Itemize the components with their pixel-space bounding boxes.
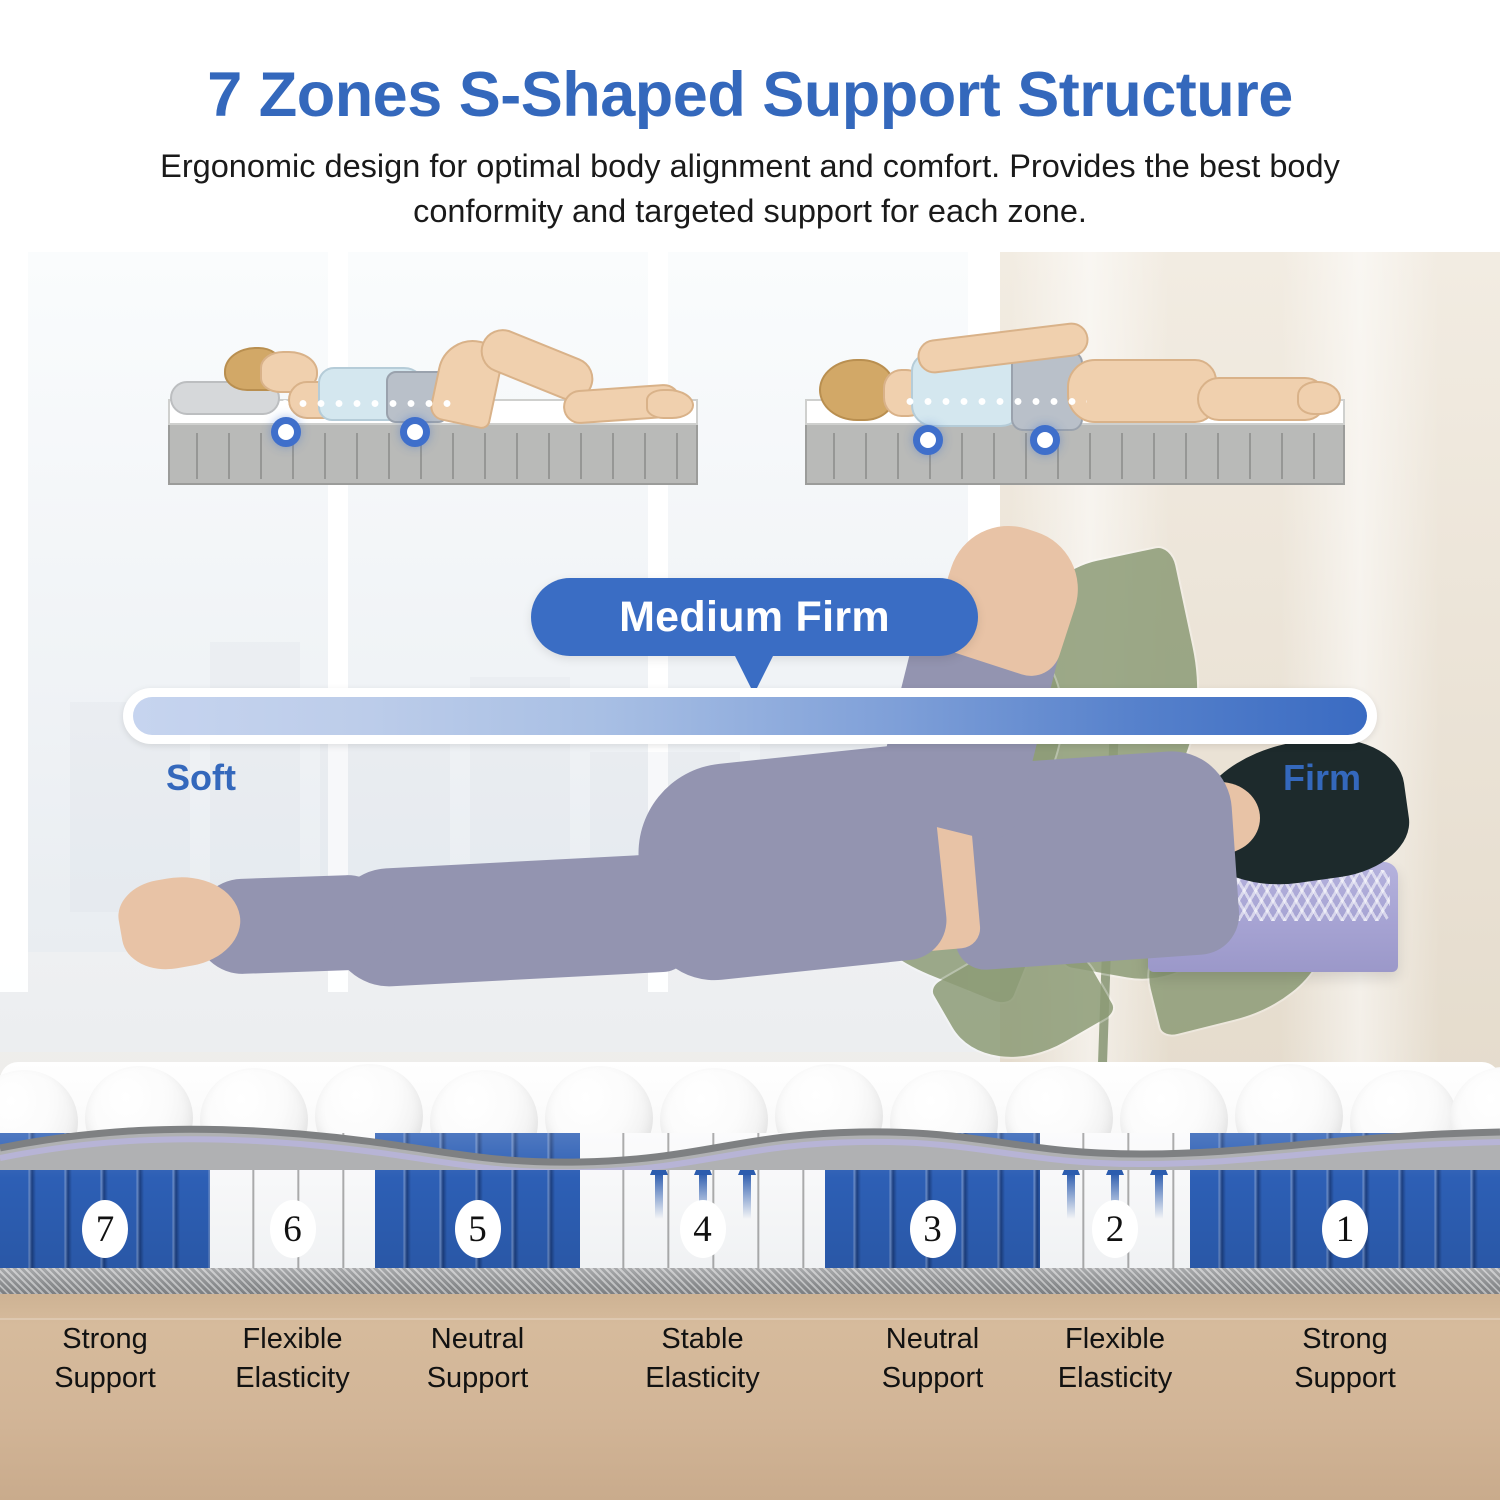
firmness-badge-label: Medium Firm xyxy=(619,596,890,639)
zone-label-3: NeutralSupport xyxy=(825,1308,1040,1428)
zone-number-badge: 2 xyxy=(1092,1200,1138,1258)
diagram-coil-base xyxy=(168,423,698,485)
zone-label-line2: Support xyxy=(825,1359,1040,1398)
zone-number-badge: 7 xyxy=(82,1200,128,1258)
zone-label-line2: Elasticity xyxy=(580,1359,825,1398)
zone-label-line2: Support xyxy=(1190,1359,1500,1398)
product-infographic: 7 Zones S-Shaped Support Structure Ergon… xyxy=(0,0,1500,1500)
diagram-back-sleeper xyxy=(168,325,698,485)
zone-label-line2: Elasticity xyxy=(210,1359,375,1398)
window-frame xyxy=(0,252,28,992)
zone-label-line1: Strong xyxy=(1190,1320,1500,1359)
page-title: 7 Zones S-Shaped Support Structure xyxy=(0,0,1500,128)
zone-label-line1: Flexible xyxy=(1040,1320,1190,1359)
zone-number-badge: 5 xyxy=(455,1200,501,1258)
firmness-slider-fill xyxy=(133,697,1367,735)
zone-label-line1: Stable xyxy=(580,1320,825,1359)
spine-alignment-line xyxy=(901,397,1087,406)
diagram-coil-base xyxy=(805,423,1345,485)
zone-label-line2: Support xyxy=(0,1359,210,1398)
zone-label-line1: Strong xyxy=(0,1320,210,1359)
zone-label-1: StrongSupport xyxy=(1190,1308,1500,1428)
up-arrow-icon xyxy=(1062,1153,1080,1219)
zone-label-2: FlexibleElasticity xyxy=(1040,1308,1190,1428)
pressure-point-marker xyxy=(1030,425,1060,455)
firmness-label-soft: Soft xyxy=(166,760,236,796)
diagram-side-sleeper xyxy=(805,325,1345,485)
pressure-point-marker xyxy=(913,425,943,455)
zone-number-badge: 4 xyxy=(680,1200,726,1258)
header: 7 Zones S-Shaped Support Structure Ergon… xyxy=(0,0,1500,252)
up-arrow-icon xyxy=(650,1153,668,1219)
zone-label-7: StrongSupport xyxy=(0,1308,210,1428)
up-arrow-icon xyxy=(738,1153,756,1219)
zone-number-badge: 1 xyxy=(1322,1200,1368,1258)
pressure-point-marker xyxy=(400,417,430,447)
zone-number-badge: 3 xyxy=(910,1200,956,1258)
zone-label-row: StrongSupportFlexibleElasticityNeutralSu… xyxy=(0,1308,1500,1428)
zone-label-4: StableElasticity xyxy=(580,1308,825,1428)
zone-label-line1: Neutral xyxy=(825,1320,1040,1359)
diagram-hip-thigh xyxy=(1067,359,1217,423)
zone-label-line1: Neutral xyxy=(375,1320,580,1359)
mattress-base-mesh xyxy=(0,1268,1500,1294)
page-subtitle: Ergonomic design for optimal body alignm… xyxy=(135,128,1365,234)
zone-label-6: FlexibleElasticity xyxy=(210,1308,375,1428)
zone-label-line2: Elasticity xyxy=(1040,1359,1190,1398)
firmness-label-firm: Firm xyxy=(1283,760,1361,796)
zone-label-line1: Flexible xyxy=(210,1320,375,1359)
spine-alignment-line xyxy=(276,399,456,408)
firmness-slider-track[interactable] xyxy=(123,688,1377,744)
diagram-feet xyxy=(1297,381,1341,415)
up-arrow-icon xyxy=(1150,1153,1168,1219)
zone-number-badge: 6 xyxy=(270,1200,316,1258)
zone-label-5: NeutralSupport xyxy=(375,1308,580,1428)
diagram-foot xyxy=(646,389,694,419)
zone-label-line2: Support xyxy=(375,1359,580,1398)
pressure-point-marker xyxy=(271,417,301,447)
firmness-badge[interactable]: Medium Firm xyxy=(531,578,978,656)
